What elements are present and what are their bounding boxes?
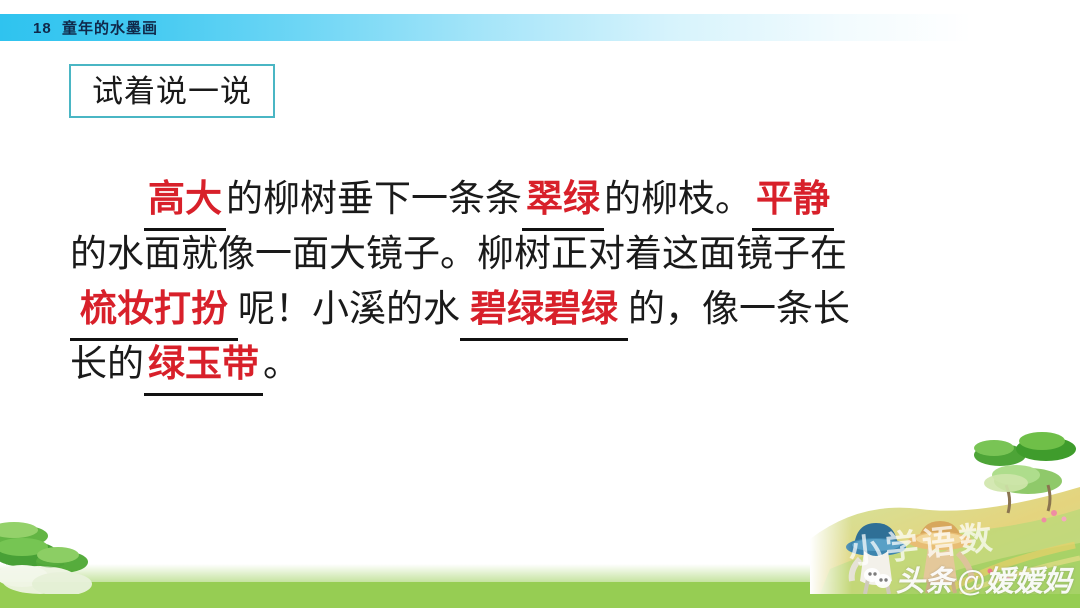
passage-text: 高大的柳树垂下一条条翠绿的柳枝。平静的水面就像一面大镜子。柳树正对着这面镜子在梳…: [70, 172, 1015, 392]
fill-in-blank-answer[interactable]: 翠绿: [522, 172, 604, 231]
toutiao-watermark: 头条 @嫒嫒妈: [863, 558, 1072, 600]
slide-page: 18 童年的水墨画 试着说一说 高大的柳树垂下一条条翠绿的柳枝。平静的水面就像一…: [0, 0, 1080, 608]
passage-static-text: 的，像一条长: [628, 289, 850, 330]
passage-static-text: 。: [263, 344, 300, 385]
toutiao-logo-icon: [863, 564, 893, 594]
fill-in-blank-answer[interactable]: 高大: [144, 172, 226, 231]
passage-static-text: 的水面就像一面大镜子。柳树正对着这面镜子在: [70, 234, 847, 275]
passage-line: 的水面就像一面大镜子。柳树正对着这面镜子在: [70, 227, 1015, 282]
passage-static-text: 的柳枝。: [604, 179, 752, 220]
passage-static-text: 呢！小溪的水: [238, 289, 460, 330]
header-bar: [0, 14, 1080, 41]
passage-static-text: 的柳树垂下一条条: [226, 179, 522, 220]
page-title: 18 童年的水墨画: [33, 17, 158, 38]
passage-static-text: 长的: [70, 344, 144, 385]
prompt-box: 试着说一说: [69, 64, 275, 118]
toutiao-channel-label: 头条: [896, 558, 954, 600]
passage-line: 高大的柳树垂下一条条翠绿的柳枝。平静: [70, 172, 1015, 227]
watercolor-trees-icon: [0, 514, 130, 594]
prompt-box-label: 试着说一说: [92, 76, 252, 107]
fill-in-blank-answer[interactable]: 平静: [752, 172, 834, 231]
passage-line: 长的绿玉带。: [70, 337, 1015, 392]
fill-in-blank-answer[interactable]: 梳妆打扮: [70, 282, 238, 341]
fill-in-blank-answer[interactable]: 碧绿碧绿: [460, 282, 628, 341]
fill-in-blank-answer[interactable]: 绿玉带: [144, 337, 263, 396]
passage-line: 梳妆打扮呢！小溪的水碧绿碧绿的，像一条长: [70, 282, 1015, 337]
toutiao-handle-label: @嫒嫒妈: [957, 558, 1072, 600]
